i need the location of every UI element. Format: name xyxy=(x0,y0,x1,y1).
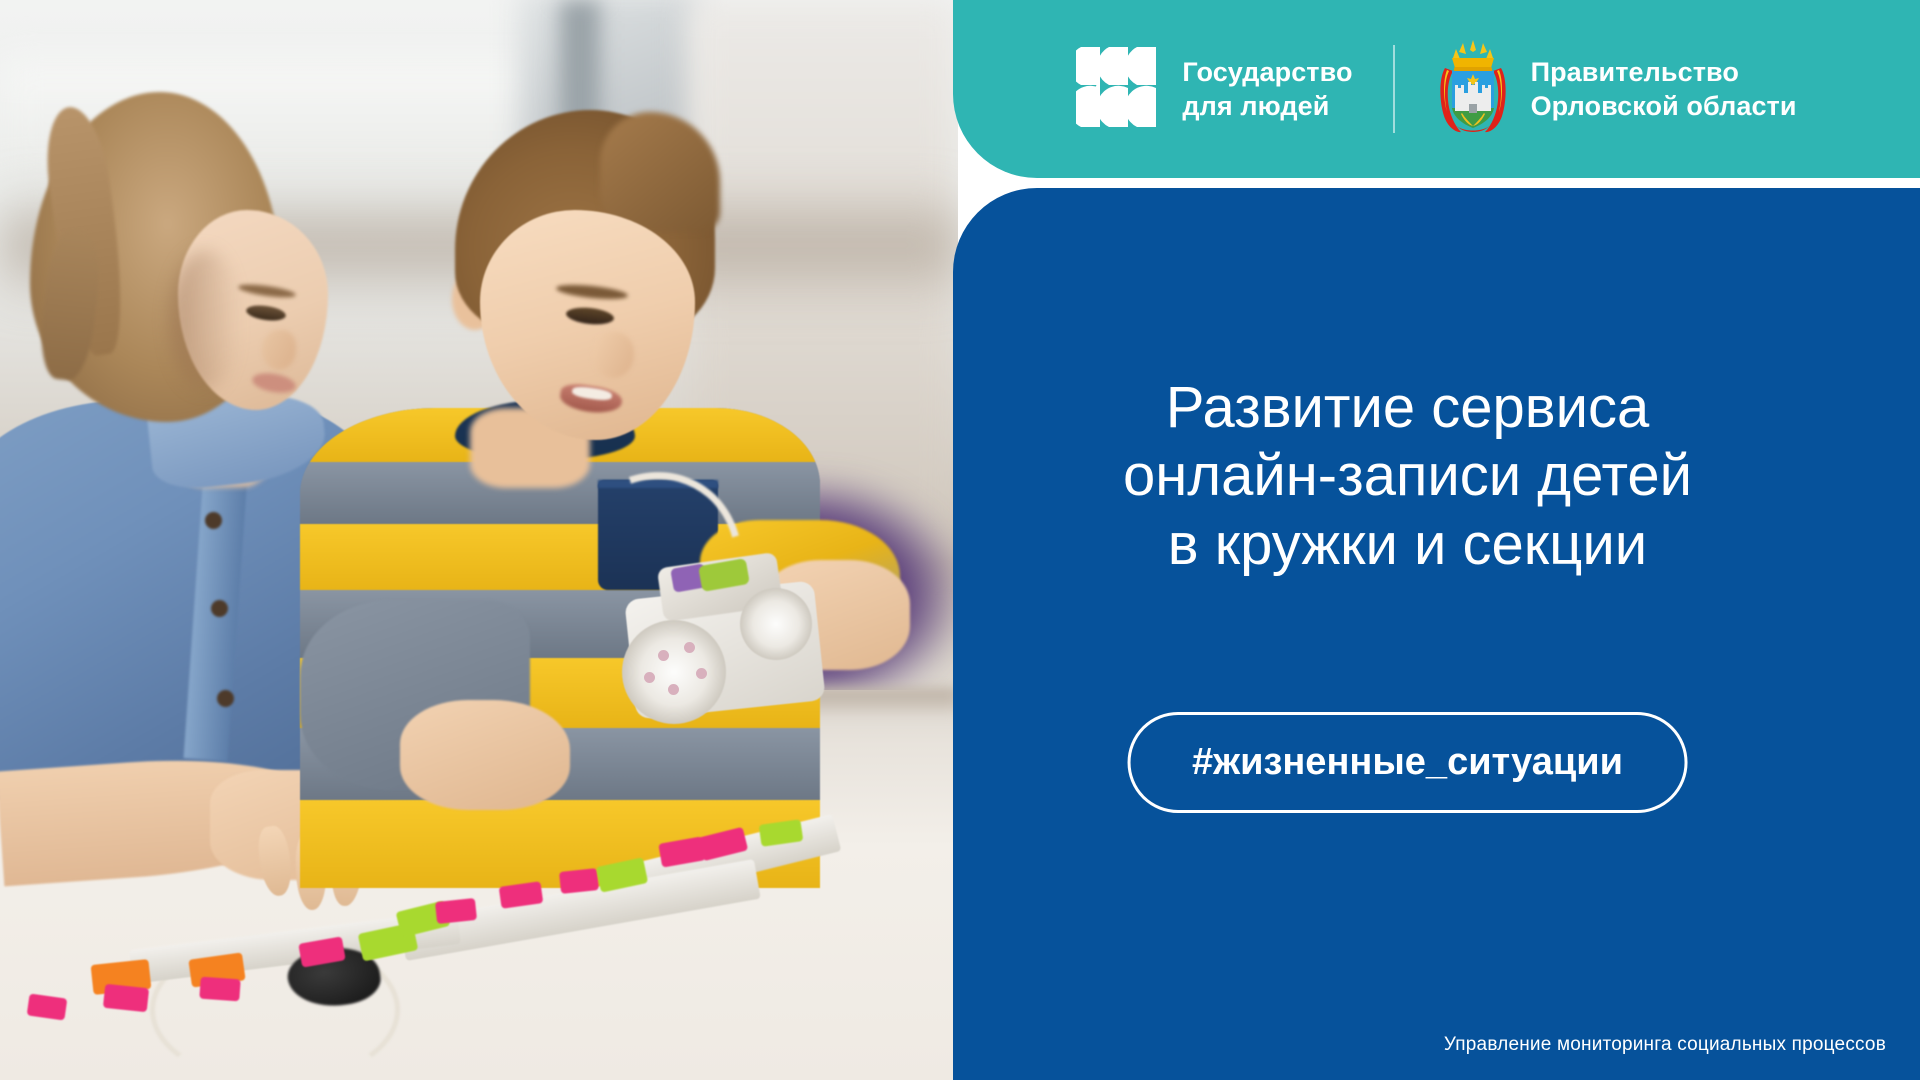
girl-shirt-button xyxy=(217,690,234,707)
three-arch-emblem-icon xyxy=(1076,47,1160,132)
robot-wheel xyxy=(622,620,726,724)
brand-row: Государство для людей xyxy=(1076,38,1796,141)
robot-wheel-dot xyxy=(668,684,679,695)
robot-wheel-dot xyxy=(658,650,669,661)
circuit-chip xyxy=(103,984,149,1012)
robot-wheel xyxy=(740,588,812,660)
brand-divider xyxy=(1393,45,1395,133)
circuit-chip xyxy=(199,977,240,1002)
page-title: Развитие сервиса онлайн-записи детей в к… xyxy=(953,374,1862,579)
oryol-oblast-coat-of-arms-icon xyxy=(1435,38,1511,141)
circuit-chip xyxy=(559,868,599,894)
circuit-chip xyxy=(435,898,477,924)
girl-face-shadow xyxy=(170,250,240,390)
oryol-government-label: Правительство Орловской области xyxy=(1531,55,1797,123)
robot-wheel-dot xyxy=(696,668,707,679)
content-panel: Развитие сервиса онлайн-записи детей в к… xyxy=(953,188,1920,1080)
boy-left-hand xyxy=(400,700,570,810)
girl-shirt-button xyxy=(205,512,222,529)
brand-header: Государство для людей xyxy=(953,0,1920,178)
hashtag-button[interactable]: #жизненные_ситуации xyxy=(1127,712,1688,813)
department-credit: Управление мониторинга социальных процес… xyxy=(1444,1034,1886,1056)
girl-shirt-button xyxy=(211,600,228,617)
robot-wheel-dot xyxy=(684,642,695,653)
hero-photo xyxy=(0,0,958,1080)
gos-dlya-lyudey-label: Государство для людей xyxy=(1182,55,1352,123)
girl-nose xyxy=(262,330,296,370)
oryol-government-logo: Правительство Орловской области xyxy=(1435,38,1797,141)
boy-nose xyxy=(592,332,634,378)
gos-dlya-lyudey-logo: Государство для людей xyxy=(1076,47,1352,132)
robot-wheel-dot xyxy=(644,672,655,683)
